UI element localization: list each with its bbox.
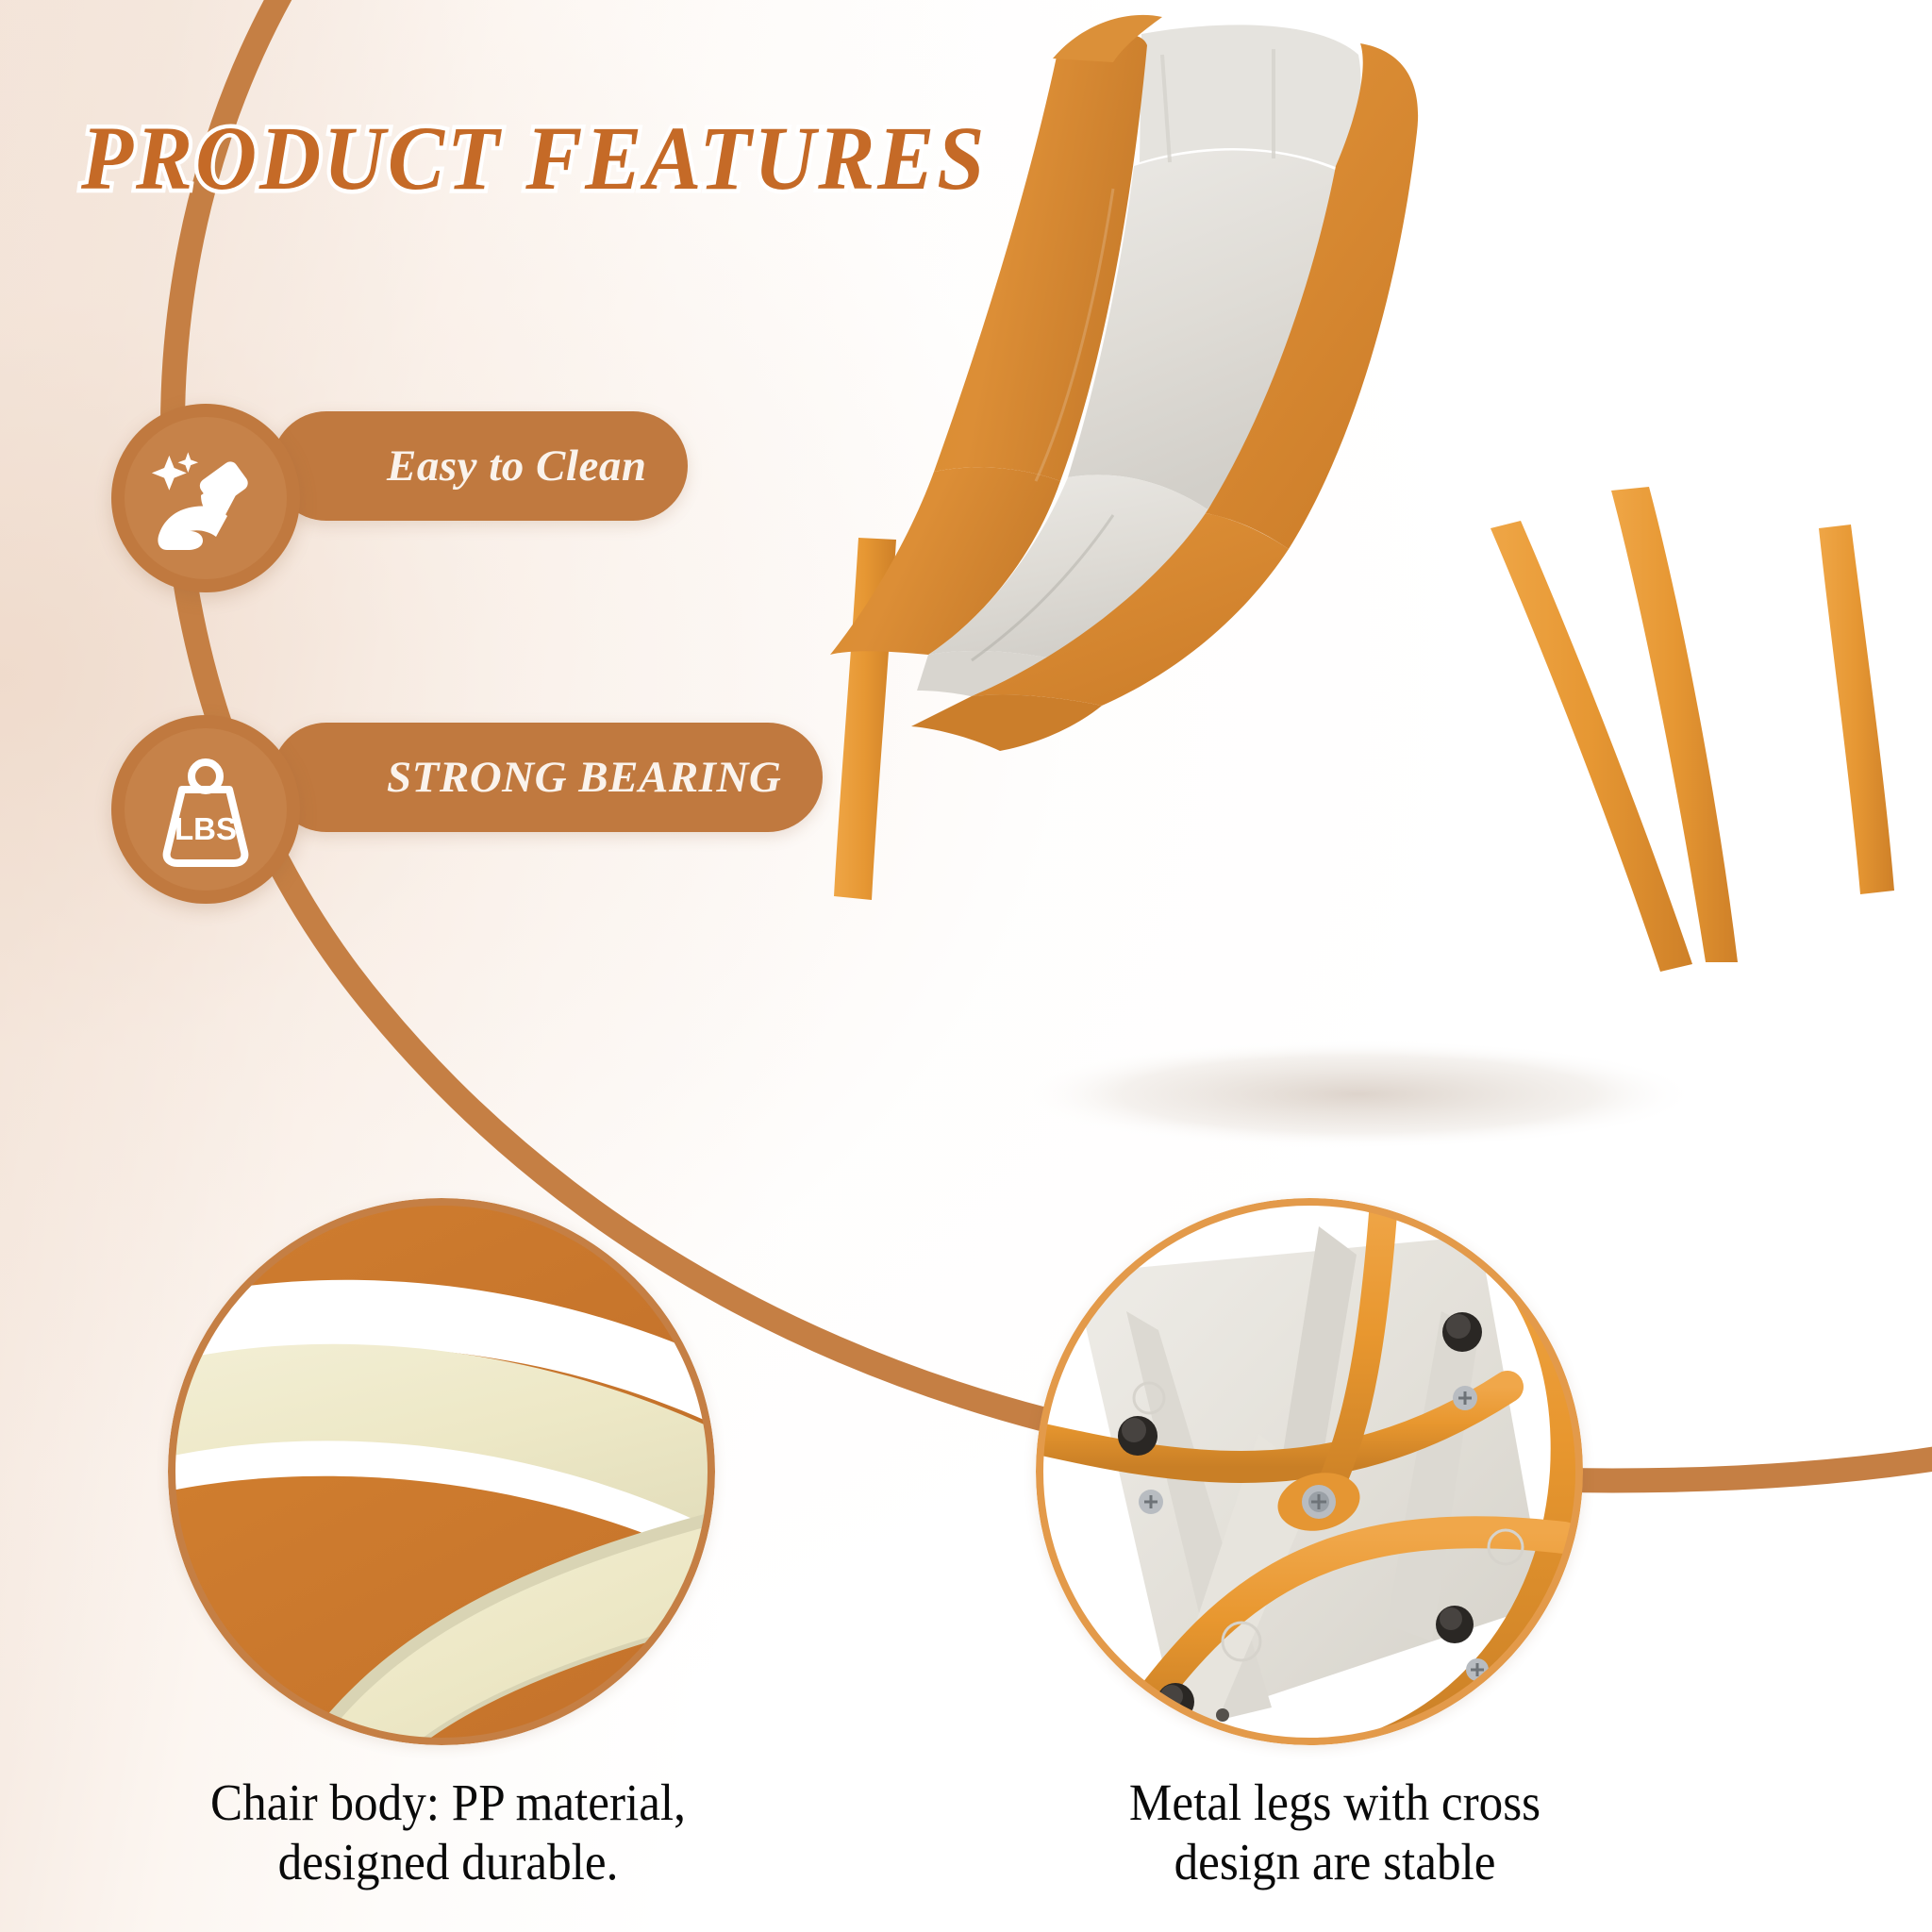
feature-label-strong-bearing: STRONG BEARING (272, 752, 823, 803)
chair-leg-far-right (1819, 525, 1894, 894)
feature-pill-2[interactable]: STRONG BEARING (272, 723, 823, 832)
caption-chair-body: Chair body: PP material, designed durabl… (84, 1774, 812, 1891)
feature-pill-1[interactable]: Easy to Clean (272, 411, 688, 521)
page-title: PRODUCT FEATURES (81, 106, 987, 210)
cleaning-sparkle-hand-icon (146, 439, 265, 558)
caption-chair-body-line2: designed durable. (84, 1833, 812, 1892)
detail-photo-chair-body (168, 1198, 715, 1745)
detail-photo-metal-legs (1036, 1198, 1583, 1745)
chair-leg-rear-right (1611, 487, 1738, 962)
caption-metal-legs-line2: design are stable (971, 1833, 1699, 1892)
lbs-icon-text: LBS (175, 811, 237, 846)
lbs-weight-icon: LBS (146, 750, 265, 869)
feature-label-easy-to-clean: Easy to Clean (272, 441, 688, 491)
product-features-infographic: Easy to Clean STRONG BEARING (0, 0, 1932, 1932)
caption-metal-legs: Metal legs with cross design are stable (971, 1774, 1699, 1891)
feature-icon-badge-1[interactable] (111, 404, 300, 592)
main-product-photo (830, 0, 1932, 1217)
caption-chair-body-line1: Chair body: PP material, (84, 1774, 812, 1833)
caption-metal-legs-line1: Metal legs with cross (971, 1774, 1699, 1833)
feature-icon-badge-2[interactable]: LBS (111, 715, 300, 904)
